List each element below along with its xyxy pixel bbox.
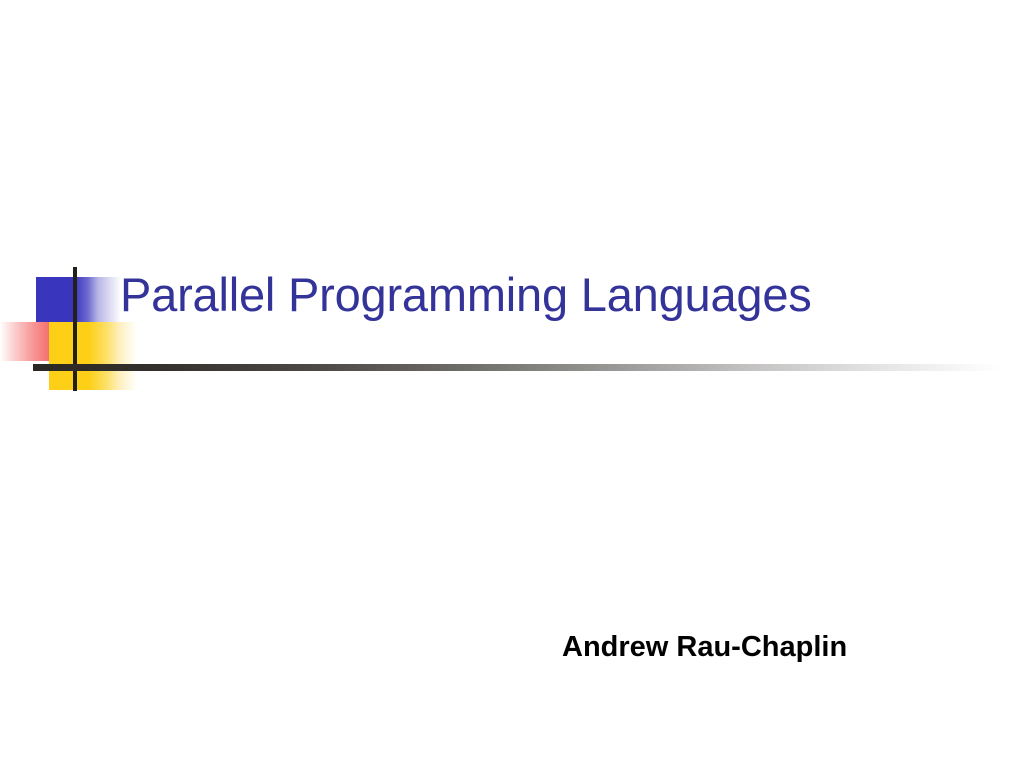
- decor-red-block: [0, 322, 64, 361]
- decor-vertical-rule: [73, 267, 77, 391]
- slide-author: Andrew Rau-Chaplin: [562, 628, 982, 666]
- title-slide: Parallel Programming Languages Andrew Ra…: [0, 0, 1024, 768]
- decor-horizontal-rule: [33, 364, 1000, 371]
- decor-yellow-square: [49, 322, 137, 390]
- slide-title: Parallel Programming Languages: [120, 266, 980, 324]
- decor-blue-square: [36, 277, 121, 323]
